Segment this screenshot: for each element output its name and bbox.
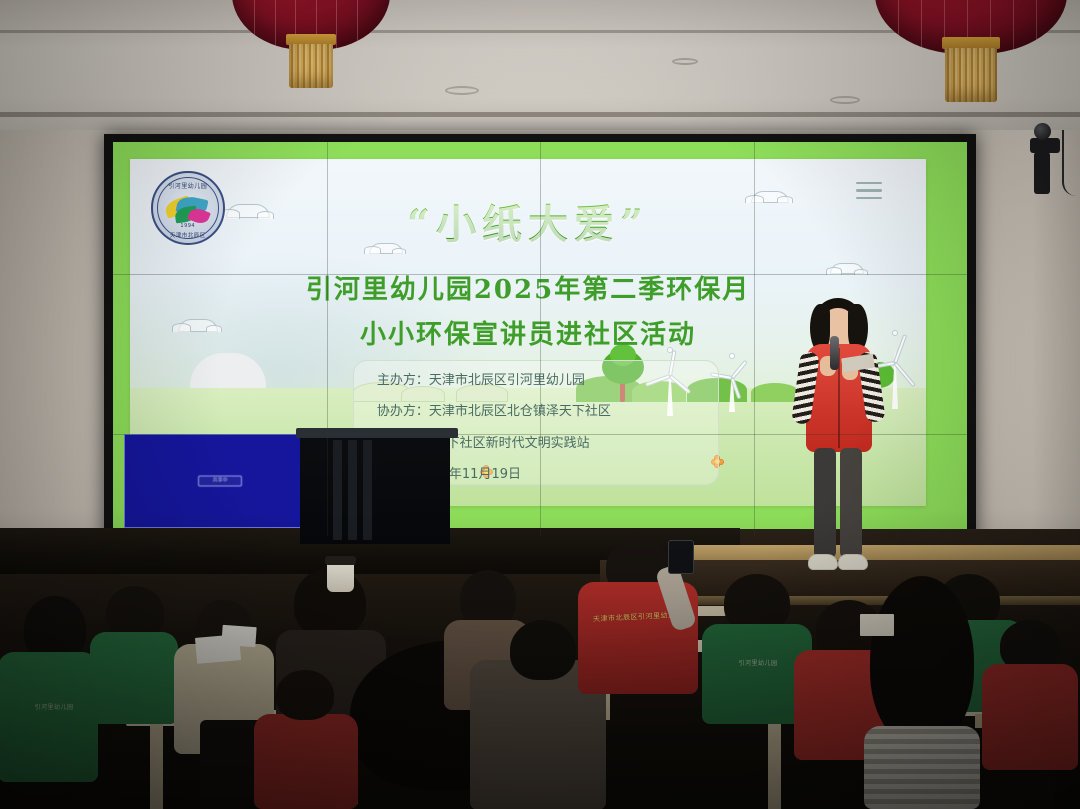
slide-info-line: 协办方：天津市北辰区北仓镇泽天下社区 — [377, 400, 611, 419]
striped-shirt — [864, 726, 980, 809]
slide-info-line: 主办方：天津市北辰区引河里幼儿园 — [377, 369, 585, 388]
blue-screen-share-window[interactable]: 共享中 — [124, 434, 316, 529]
ceiling-vent — [830, 96, 860, 104]
smartphone[interactable] — [668, 540, 694, 574]
red-coat — [254, 714, 358, 809]
equipment-top — [296, 428, 458, 438]
green-vest — [90, 632, 178, 724]
hair — [510, 620, 576, 680]
lantern-tassel — [945, 48, 997, 102]
left-wall — [0, 130, 110, 560]
wall-mounted-camera — [1018, 122, 1076, 202]
ceiling-seam — [0, 112, 1080, 117]
equipment-column — [348, 440, 357, 540]
slide-title: “小纸大爱” — [130, 192, 926, 250]
paper-cup — [327, 562, 354, 592]
paper-on-desk — [221, 625, 256, 647]
ceiling-vent — [445, 86, 479, 95]
paper-cup-lid — [325, 556, 356, 565]
photo-scene: 引河里幼儿园 1994 天津市北辰区 “小纸大爱” 引河里幼儿园2025年第二季… — [0, 0, 1080, 809]
lantern-tassel — [289, 44, 333, 88]
presenter-leg — [840, 448, 862, 558]
logo-top-text: 引河里幼儿园 — [153, 181, 223, 190]
audience-member — [246, 690, 366, 809]
dark-equipment — [300, 432, 450, 544]
equipment-column — [333, 440, 342, 540]
lantern-right — [875, 0, 1067, 54]
red-shirt — [982, 664, 1078, 770]
microphone — [830, 336, 839, 370]
desk-leg — [150, 724, 163, 809]
camera-lens-icon — [1034, 123, 1051, 140]
equipment-column — [363, 440, 372, 540]
audience-member — [980, 620, 1080, 770]
ceiling-vent — [672, 58, 698, 65]
wind-turbine-icon — [719, 356, 745, 412]
presenter-shoe — [838, 554, 868, 570]
paper-on-desk — [860, 614, 894, 636]
presenter-shoe — [808, 554, 838, 570]
lantern-left — [232, 0, 390, 50]
audience-member-photographer: 天津市北辰区引河里幼儿园 — [572, 538, 704, 698]
presenter-leg — [814, 448, 836, 558]
share-status-button[interactable]: 共享中 — [198, 475, 242, 486]
desk-leg — [768, 714, 781, 809]
audience-member — [858, 576, 988, 809]
hair — [870, 576, 974, 746]
hair — [276, 670, 334, 720]
presenter — [786, 298, 892, 586]
